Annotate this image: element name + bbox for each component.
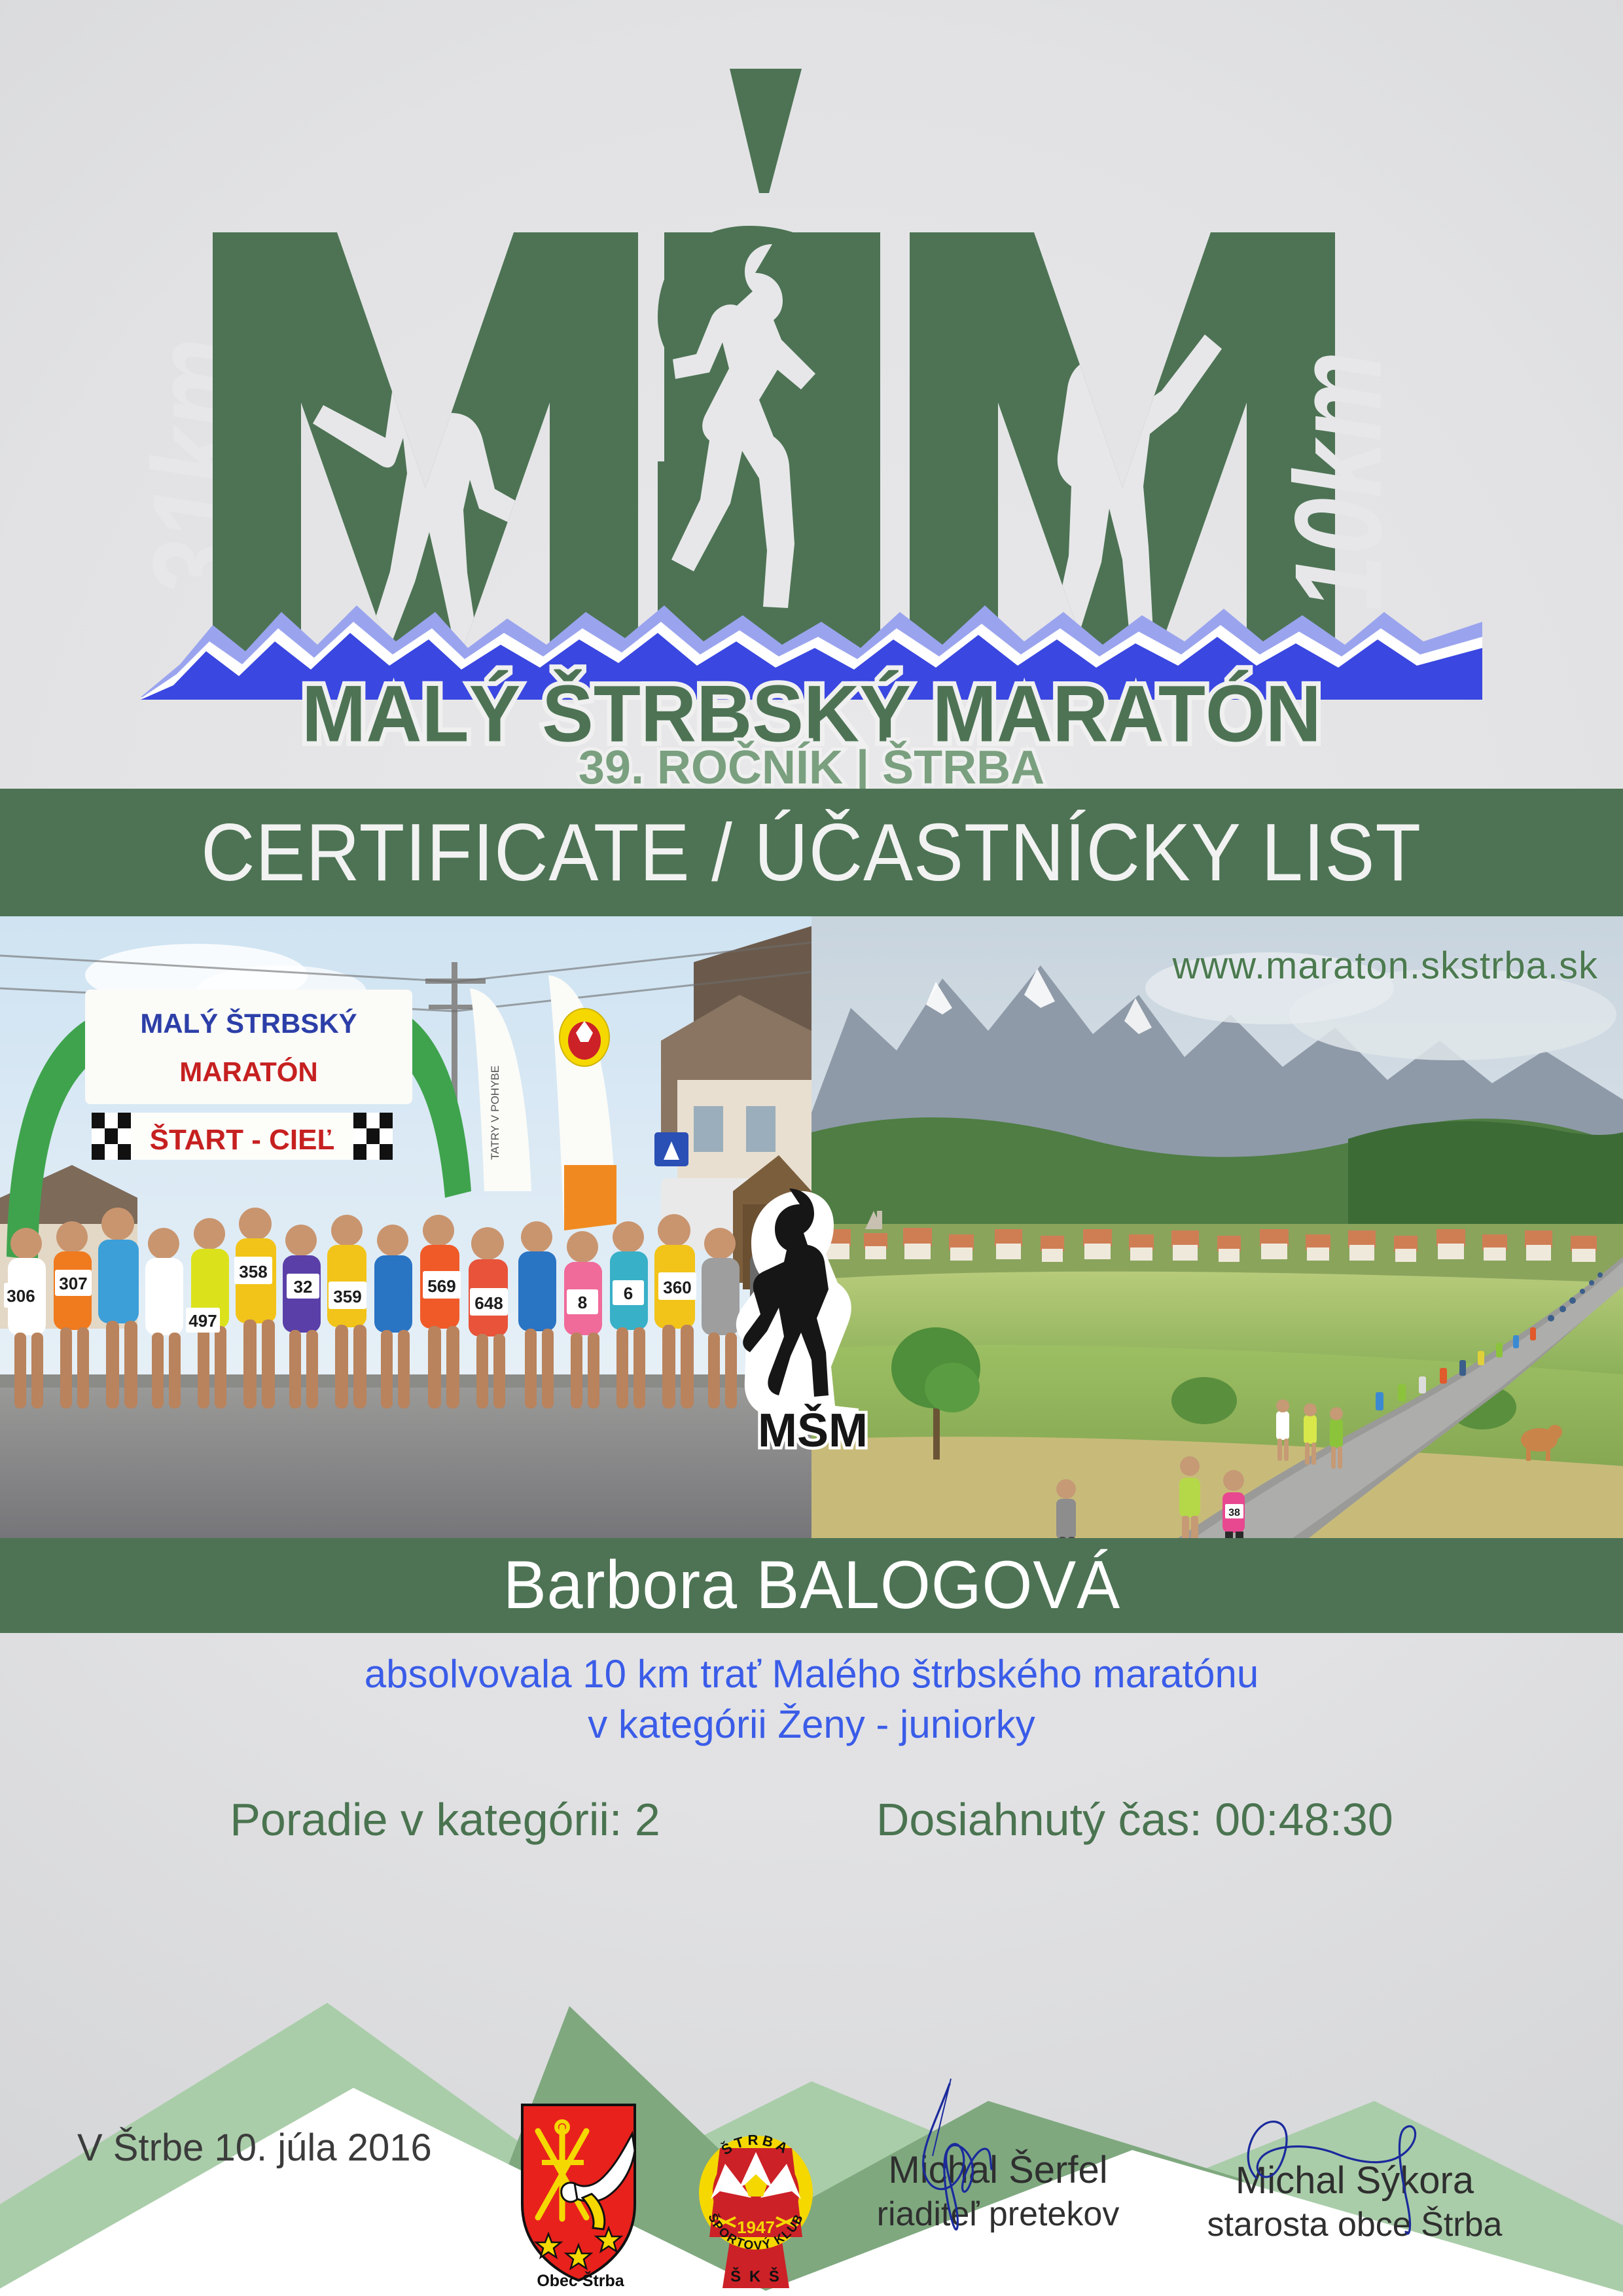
- bib: 360: [658, 1272, 696, 1300]
- photo-countryside: 38 www.maraton.skstrba.sk: [811, 916, 1623, 1538]
- arch-title-line2: MARATÓN: [179, 1056, 318, 1087]
- participant-name: Barbora BALOGOVÁ: [503, 1547, 1120, 1624]
- spectator: [1056, 1479, 1076, 1538]
- event-logo-area: 31km: [0, 0, 1623, 789]
- certificate-page: 31km: [0, 0, 1623, 2296]
- bib: 359: [329, 1282, 366, 1309]
- bib: 306: [4, 1283, 38, 1308]
- obec-strba-coat-of-arms: Obec Štrba: [504, 2100, 658, 2289]
- svg-text:32: 32: [294, 1277, 313, 1297]
- msm-runner-badge: MŠM: [728, 1185, 898, 1460]
- signature-scribble-director: [887, 2070, 1109, 2246]
- front-runners: [1276, 1399, 1343, 1469]
- svg-text:10km: 10km: [1268, 351, 1407, 611]
- bib: 32: [287, 1274, 319, 1299]
- finish-time: Dosiahnutý čas: 00:48:30: [876, 1793, 1393, 1846]
- svg-text:358: 358: [239, 1262, 267, 1282]
- club-abbrev: Š K Š: [730, 2267, 781, 2286]
- certificate-title-band: CERTIFICATE / ÚČASTNÍCKY LIST: [0, 789, 1623, 916]
- achievement-line-2: v kategórii Ženy - juniorky: [0, 1700, 1623, 1750]
- achievement-line-1: absolvovala 10 km trať Malého štrbského …: [0, 1649, 1623, 1700]
- crest-obec-label: Obec Štrba: [537, 2270, 624, 2289]
- msm-logo: 31km: [141, 36, 1482, 795]
- runner-crowd: [8, 1208, 788, 1408]
- club-year: 1947: [737, 2217, 775, 2237]
- svg-text:307: 307: [59, 1274, 87, 1293]
- start-finish-banner: ŠTART - CIEĽ: [150, 1122, 335, 1156]
- certificate-title: CERTIFICATE / ÚČASTNÍCKY LIST: [202, 806, 1422, 899]
- bib: 497: [186, 1308, 220, 1333]
- checker-flag-left: [92, 1113, 131, 1160]
- svg-text:569: 569: [427, 1276, 455, 1296]
- participant-name-band: Barbora BALOGOVÁ: [0, 1538, 1623, 1633]
- svg-text:6: 6: [624, 1283, 633, 1303]
- achievement-description: absolvovala 10 km trať Malého štrbského …: [0, 1649, 1623, 1750]
- svg-text:360: 360: [663, 1278, 691, 1297]
- results-row: Poradie v kategórii: 2 Dosiahnutý čas: 0…: [0, 1793, 1623, 1846]
- photo-start-line: MALÝ ŠTRBSKÝ MARATÓN ŠTART - CIEĽ: [0, 916, 811, 1538]
- event-subtitle: 39. ROČNÍK | ŠTRBA: [579, 741, 1044, 794]
- certificate-footer: V Štrbe 10. júla 2016: [0, 2081, 1623, 2296]
- distance-right-label: 10km: [1268, 351, 1407, 611]
- svg-text:8: 8: [578, 1293, 587, 1312]
- bib: 38: [1225, 1504, 1243, 1518]
- bib: 6: [613, 1280, 644, 1305]
- badge-text: MŠM: [758, 1404, 868, 1457]
- bib: 8: [567, 1289, 598, 1314]
- svg-text:306: 306: [7, 1286, 35, 1306]
- bush: [1171, 1377, 1237, 1424]
- sks-club-logo: 1947 ŠTRBA ŠPORTOVÝ KLUB Š K Š: [679, 2101, 833, 2291]
- signature-block-director: Michal Šerfel riaditeľ pretekov: [857, 2148, 1139, 2234]
- arch-title-line1: MALÝ ŠTRBSKÝ: [140, 1007, 357, 1039]
- flag-text: TATRY V POHYBE: [489, 1066, 501, 1160]
- signature-block-mayor: Michal Sýkora starosta obce Štrba: [1204, 2159, 1505, 2244]
- svg-text:359: 359: [333, 1287, 361, 1306]
- bib: 358: [234, 1257, 272, 1284]
- svg-text:497: 497: [188, 1311, 217, 1331]
- bib: 648: [470, 1288, 508, 1316]
- checker-flag-right: [353, 1113, 393, 1160]
- issue-date: V Štrbe 10. júla 2016: [77, 2126, 432, 2170]
- svg-text:648: 648: [474, 1293, 503, 1313]
- bib: 569: [423, 1271, 461, 1299]
- category-rank: Poradie v kategórii: 2: [230, 1793, 660, 1846]
- signature-scribble-mayor: [1217, 2080, 1492, 2244]
- runner-pink: 38: [1222, 1470, 1245, 1538]
- logo-caron: [730, 69, 802, 193]
- bib: 307: [55, 1270, 92, 1296]
- svg-text:38: 38: [1228, 1507, 1240, 1518]
- website-url: www.maraton.skstrba.sk: [1172, 944, 1598, 988]
